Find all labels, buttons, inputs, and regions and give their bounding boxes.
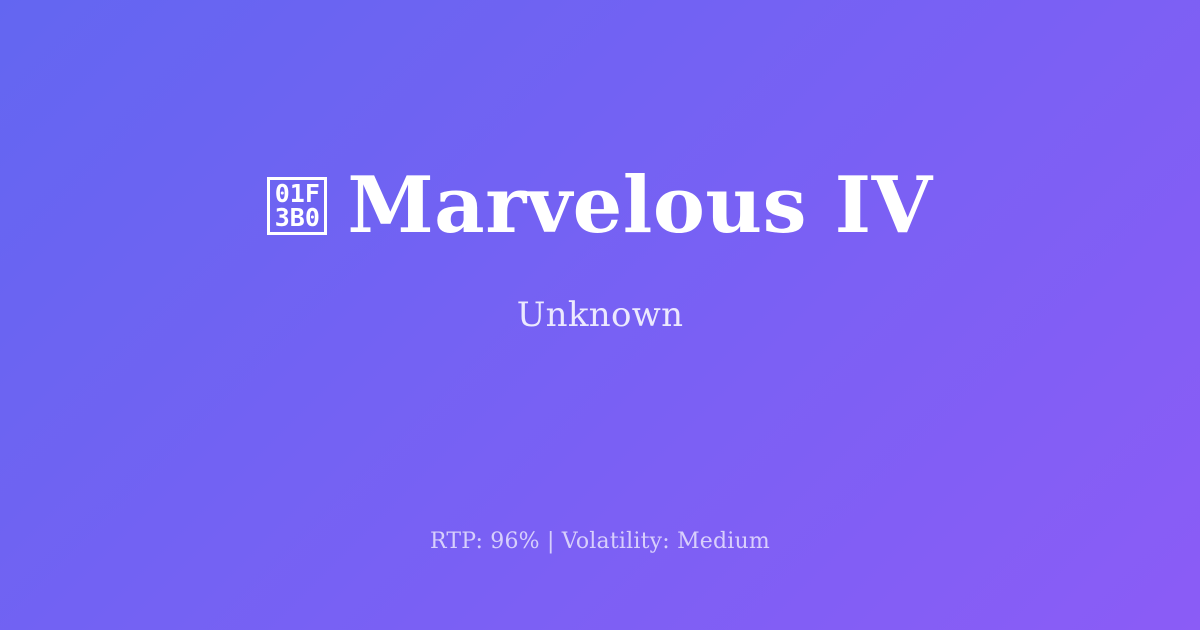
og-share-card: 01F 3B0 Marvelous IV Unknown RTP: 96% | …: [0, 0, 1200, 630]
title-row: 01F 3B0 Marvelous IV: [267, 165, 932, 247]
provider-subtitle: Unknown: [517, 247, 684, 335]
slot-machine-icon: 01F 3B0: [267, 177, 327, 235]
tofu-codepoint-row-bottom: 3B0: [275, 206, 320, 230]
hero-section: 01F 3B0 Marvelous IV Unknown: [0, 0, 1200, 500]
page-title: Marvelous IV: [347, 165, 932, 247]
game-stats-line: RTP: 96% | Volatility: Medium: [0, 528, 1200, 556]
